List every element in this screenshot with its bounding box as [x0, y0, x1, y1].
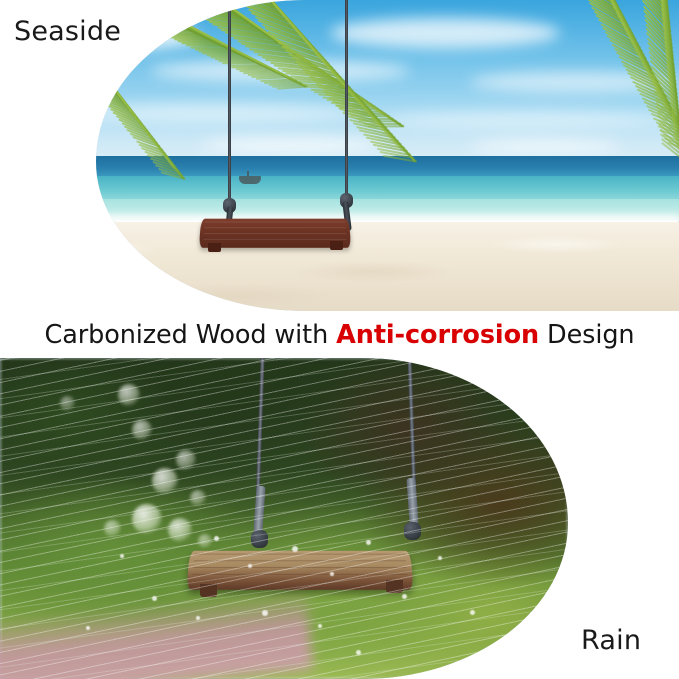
rain-artwork	[0, 358, 568, 679]
water-droplet-icon	[366, 540, 371, 545]
product-feature-panel: Carbonized Wood with Anti-corrosion Desi…	[0, 0, 679, 679]
headline-banner: Carbonized Wood with Anti-corrosion Desi…	[0, 312, 679, 358]
headline-text: Carbonized Wood with Anti-corrosion Desi…	[45, 320, 635, 350]
water-droplet-icon	[120, 554, 124, 558]
water-droplet-icon	[330, 572, 334, 576]
water-droplet-icon	[292, 546, 298, 552]
cloud-icon	[200, 138, 380, 152]
boat-icon	[239, 176, 261, 184]
scene-rain	[0, 358, 679, 679]
water-droplet-icon	[470, 610, 475, 615]
sand-beach	[96, 222, 679, 311]
cloud-icon	[470, 140, 620, 153]
cloud-icon	[380, 112, 670, 128]
sand-texture	[96, 222, 679, 311]
swing-rope-left	[228, 0, 231, 206]
seaside-image-clip	[96, 0, 679, 311]
water-droplet-icon	[262, 610, 268, 616]
water-droplet-icon	[196, 616, 200, 620]
swing-seat-leg	[330, 241, 343, 250]
headline-highlight: Anti-corrosion	[336, 320, 539, 350]
water-droplet-icon	[248, 564, 252, 568]
swing-seat-seaside	[199, 219, 352, 248]
water-droplet-icon	[356, 650, 361, 655]
seaside-artwork	[96, 0, 679, 311]
rain-image-clip	[0, 358, 568, 679]
headline-part-one: Carbonized Wood with	[45, 320, 337, 350]
water-droplet-icon	[214, 536, 219, 541]
headline-part-two: Design	[539, 320, 634, 350]
cloud-icon	[330, 18, 560, 48]
water-droplet-icon	[438, 556, 442, 560]
label-rain: Rain	[581, 625, 641, 656]
water-droplet-icon	[402, 594, 407, 599]
swing-seat-leg	[208, 243, 221, 252]
water-droplet-icon	[152, 596, 157, 601]
water-droplet-icon	[318, 624, 322, 628]
swing-rope-right	[345, 0, 348, 200]
label-seaside: Seaside	[14, 16, 121, 47]
rain-streaks-layer-secondary	[0, 358, 568, 679]
water-droplet-icon	[86, 626, 90, 630]
